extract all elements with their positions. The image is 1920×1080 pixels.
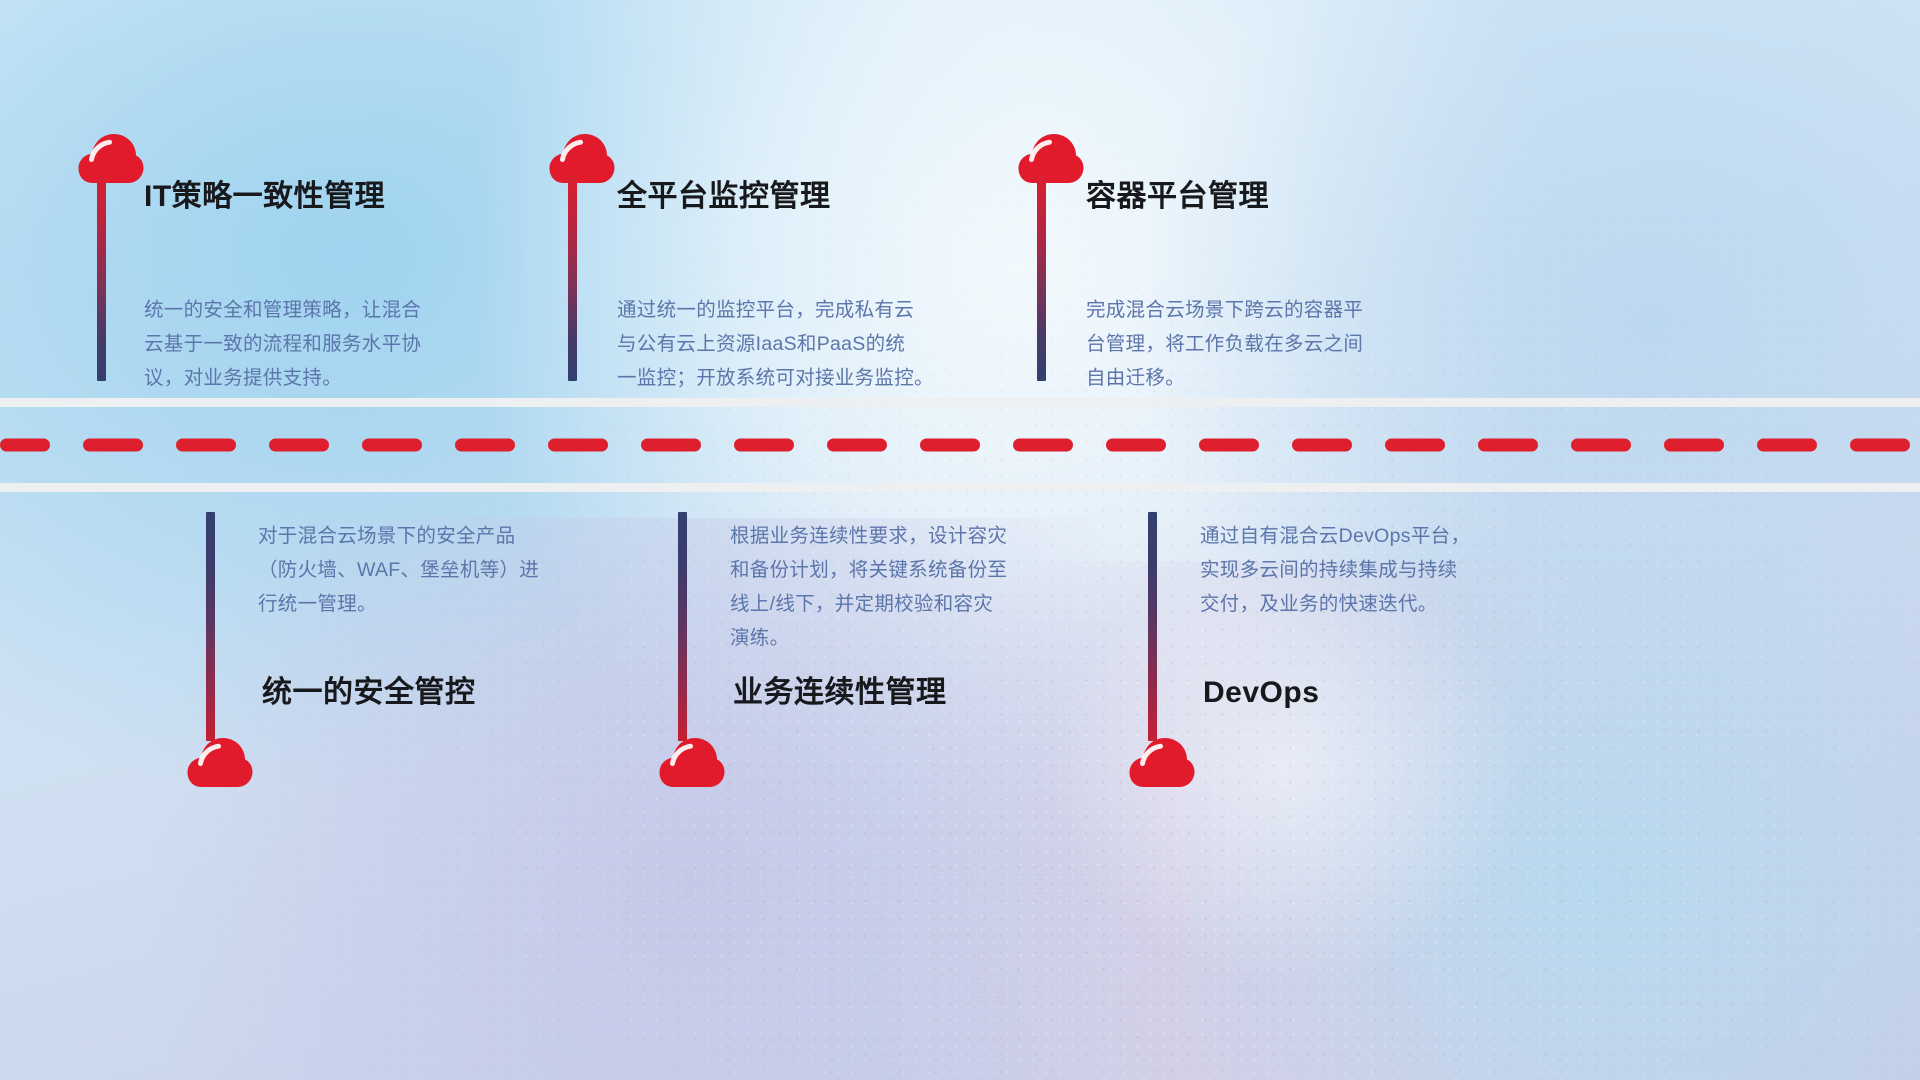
cloud-icon: [78, 132, 144, 184]
road-dash: [827, 439, 887, 452]
pin-bar: [678, 512, 687, 741]
cloud-icon: [1129, 736, 1195, 788]
road-divider: [0, 398, 1920, 492]
road-dash: [362, 439, 422, 452]
card-body: 对于混合云场景下的安全产品 （防火墙、WAF、堡垒机等）进 行统一管理。: [258, 519, 648, 621]
road-dash: [1571, 439, 1631, 452]
road-dash: [269, 439, 329, 452]
road-dash: [1106, 439, 1166, 452]
road-dash: [176, 439, 236, 452]
road-dash: [1385, 439, 1445, 452]
pin-bar: [97, 176, 106, 381]
card-body: 统一的安全和管理策略，让混合 云基于一致的流程和服务水平协 议，对业务提供支持。: [144, 293, 524, 395]
card-heading: 业务连续性管理: [733, 678, 947, 708]
card-body: 完成混合云场景下跨云的容器平 台管理，将工作负载在多云之间 自由迁移。: [1086, 293, 1466, 395]
card-body: 通过自有混合云DevOps平台， 实现多云间的持续集成与持续 交付，及业务的快速…: [1200, 519, 1600, 621]
road-dash: [1664, 439, 1724, 452]
road-dash: [0, 439, 50, 452]
pin-bar: [1148, 512, 1157, 741]
card-body: 通过统一的监控平台，完成私有云 与公有云上资源IaaS和PaaS的统 一监控；开…: [617, 293, 1017, 395]
pin-bar: [206, 512, 215, 741]
road-edge-bottom: [0, 483, 1920, 492]
pin-bar: [568, 176, 577, 381]
road-dash: [734, 439, 794, 452]
card-heading: 容器平台管理: [1086, 182, 1269, 212]
cloud-icon: [1018, 132, 1084, 184]
road-dash: [920, 439, 980, 452]
cloud-icon: [549, 132, 615, 184]
road-dash: [1292, 439, 1352, 452]
pin-bar: [1037, 176, 1046, 381]
road-dash: [1850, 439, 1910, 452]
road-dash: [455, 439, 515, 452]
road-dash: [641, 439, 701, 452]
road-dashed-line: [0, 439, 1920, 452]
cloud-icon: [187, 736, 253, 788]
road-dash: [548, 439, 608, 452]
road-edge-top: [0, 398, 1920, 407]
road-dash: [1199, 439, 1259, 452]
road-dash: [83, 439, 143, 452]
road-dash: [1757, 439, 1817, 452]
card-heading: IT策略一致性管理: [144, 182, 385, 212]
road-dash: [1013, 439, 1073, 452]
cloud-icon: [659, 736, 725, 788]
road-dash: [1478, 439, 1538, 452]
card-heading: DevOps: [1203, 678, 1319, 708]
card-heading: 统一的安全管控: [262, 678, 476, 708]
card-heading: 全平台监控管理: [617, 182, 831, 212]
card-body: 根据业务连续性要求，设计容灾 和备份计划，将关键系统备份至 线上/线下，并定期校…: [730, 519, 1120, 655]
